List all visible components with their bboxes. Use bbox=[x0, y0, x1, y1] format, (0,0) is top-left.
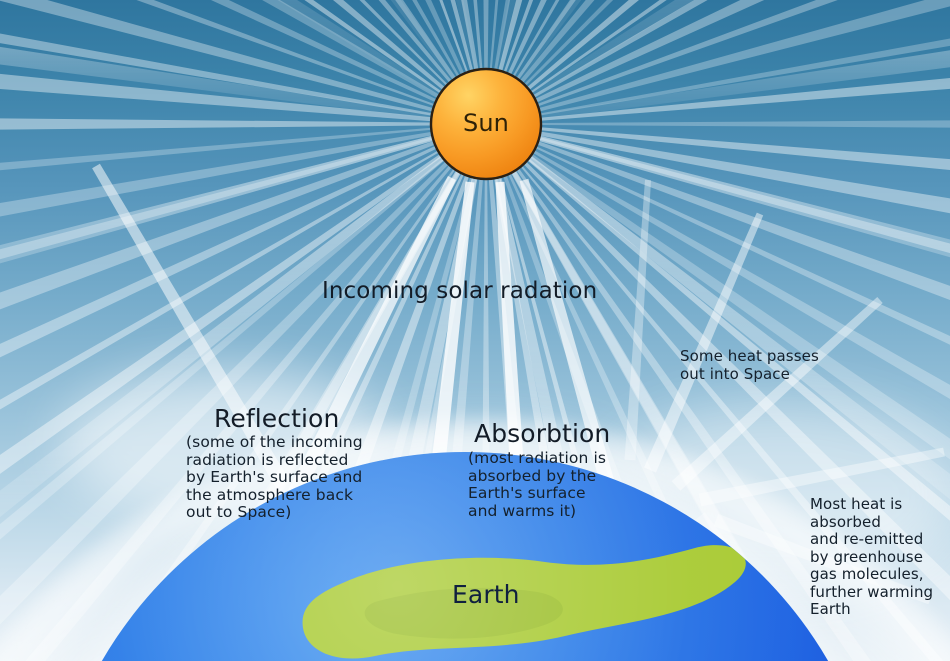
earth-label: Earth bbox=[452, 580, 520, 609]
greenhouse-absorption-note: Most heat is absorbed and re-emitted by … bbox=[810, 496, 933, 619]
reflection-body: (some of the incoming radiation is refle… bbox=[186, 434, 363, 522]
sun-label: Sun bbox=[432, 109, 540, 137]
absorption-body: (most radiation is absorbed by the Earth… bbox=[468, 450, 606, 520]
incoming-radiation-label: Incoming solar radation bbox=[322, 278, 597, 304]
escaping-heat-ray-icon bbox=[644, 213, 763, 473]
globe-icon bbox=[45, 452, 885, 661]
escaping-heat-ray-icon bbox=[625, 180, 651, 461]
heat-escape-note: Some heat passes out into Space bbox=[680, 348, 819, 383]
reflection-title: Reflection bbox=[214, 404, 339, 433]
greenhouse-effect-diagram: Sun Incoming solar radation Reflection (… bbox=[0, 0, 950, 661]
absorption-title: Absorbtion bbox=[474, 419, 610, 448]
